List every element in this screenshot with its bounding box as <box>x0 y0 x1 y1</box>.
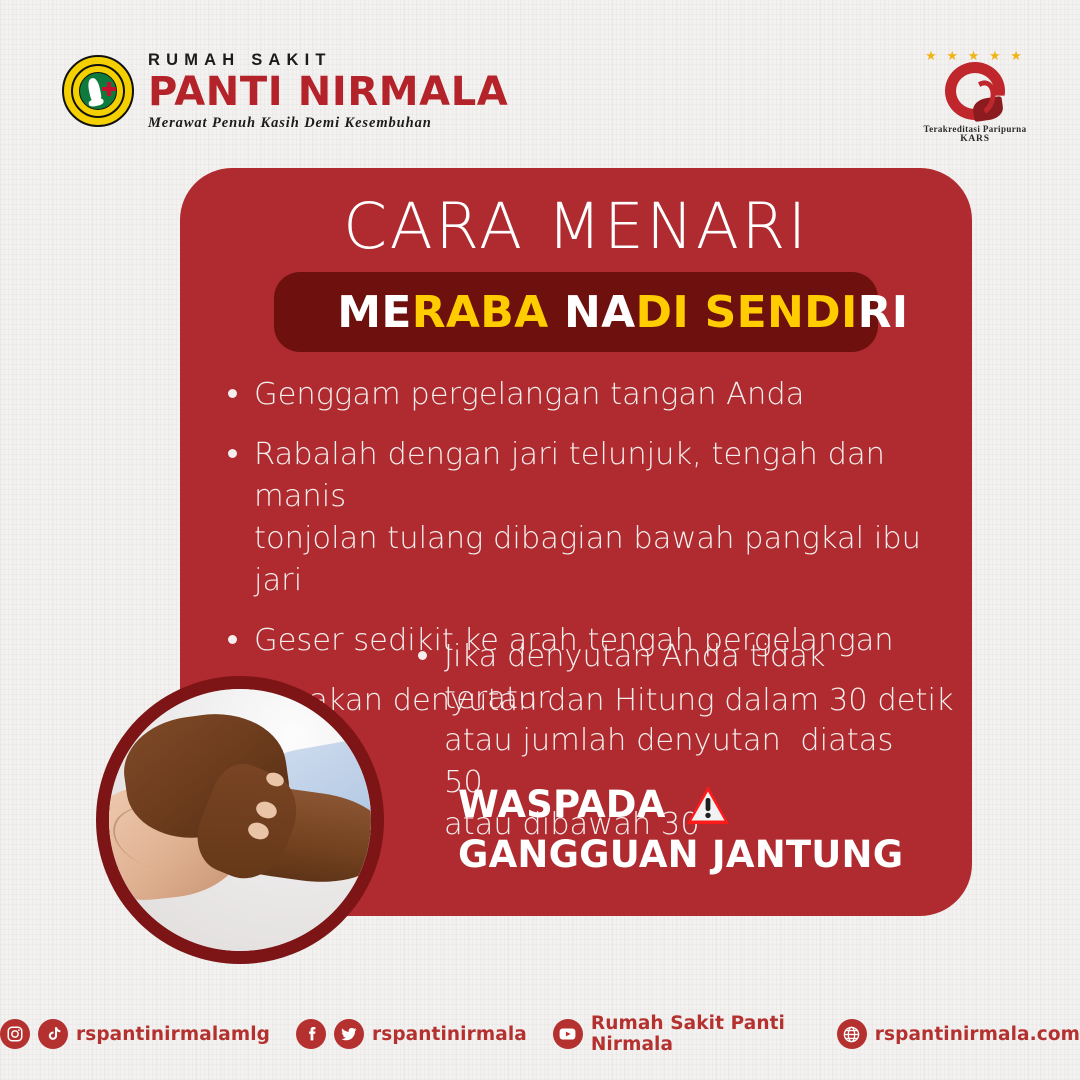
warning-callout: WASPADA GANGGUAN JANTUNG <box>458 780 903 880</box>
bullet-dot-icon <box>228 389 237 398</box>
accreditation-badge: ★ ★ ★ ★ ★ Terakreditasi Paripurna KARS <box>910 48 1040 144</box>
subtitle-seg-4: RI <box>858 287 909 338</box>
globe-icon[interactable] <box>837 1019 867 1049</box>
hospital-logo: RUMAH SAKIT PANTI NIRMALA Merawat Penuh … <box>62 52 508 131</box>
facebook-icon[interactable] <box>296 1019 326 1049</box>
warning-line2: GANGGUAN JANTUNG <box>458 830 903 880</box>
social-group-website[interactable]: rspantinirmala.com <box>837 1019 1080 1049</box>
social-group-instagram-tiktok[interactable]: rspantinirmalamlg <box>0 1019 270 1049</box>
list-item-text: Genggam pergelangan tangan Anda <box>254 374 804 416</box>
subtitle-seg-2: NA <box>548 287 635 338</box>
header: RUMAH SAKIT PANTI NIRMALA Merawat Penuh … <box>0 0 1080 168</box>
social-group-facebook-twitter[interactable]: rspantinirmala <box>296 1019 527 1049</box>
hospital-tagline: Merawat Penuh Kasih Demi Kesembuhan <box>148 116 508 131</box>
kars-q-mark-icon <box>939 62 1011 124</box>
list-item: Rabalah dengan jari telunjuk, tengah dan… <box>228 434 958 602</box>
social-handle[interactable]: rspantinirmala <box>372 1024 527 1045</box>
bullet-dot-icon <box>228 635 237 644</box>
bullet-dot-icon <box>228 449 237 458</box>
hospital-kicker: RUMAH SAKIT <box>148 52 508 69</box>
social-handle[interactable]: rspantinirmalamlg <box>76 1024 270 1045</box>
pulse-check-photo <box>96 676 384 964</box>
subtitle-seg-0: ME <box>337 287 411 338</box>
warning-triangle-icon <box>686 785 730 825</box>
instagram-icon[interactable] <box>0 1019 30 1049</box>
hospital-crest-icon <box>62 55 134 127</box>
list-item: Genggam pergelangan tangan Anda <box>228 374 958 416</box>
accreditation-line1: Terakreditasi Paripurna <box>910 124 1040 134</box>
subtitle-seg-1: RABA <box>412 287 549 338</box>
social-handle[interactable]: Rumah Sakit Panti Nirmala <box>591 1013 811 1055</box>
twitter-icon[interactable] <box>334 1019 364 1049</box>
accreditation-line2: KARS <box>910 134 1040 144</box>
bullet-dot-icon <box>418 651 427 660</box>
subtitle-banner: MERABA NADI SENDIRI <box>274 272 878 352</box>
social-footer: rspantinirmalamlg rspantinirmala Rumah S… <box>0 1012 1080 1056</box>
subtitle-text: MERABA NADI SENDIRI <box>244 236 909 389</box>
hospital-name: PANTI NIRMALA <box>148 72 508 113</box>
subtitle-seg-3: DI SENDI <box>636 287 858 338</box>
list-item-text: Rabalah dengan jari telunjuk, tengah dan… <box>254 434 958 602</box>
warning-line1: WASPADA <box>458 780 666 830</box>
youtube-icon[interactable] <box>553 1019 583 1049</box>
social-handle[interactable]: rspantinirmala.com <box>875 1024 1080 1045</box>
social-group-youtube[interactable]: Rumah Sakit Panti Nirmala <box>553 1013 811 1055</box>
tiktok-icon[interactable] <box>38 1019 68 1049</box>
